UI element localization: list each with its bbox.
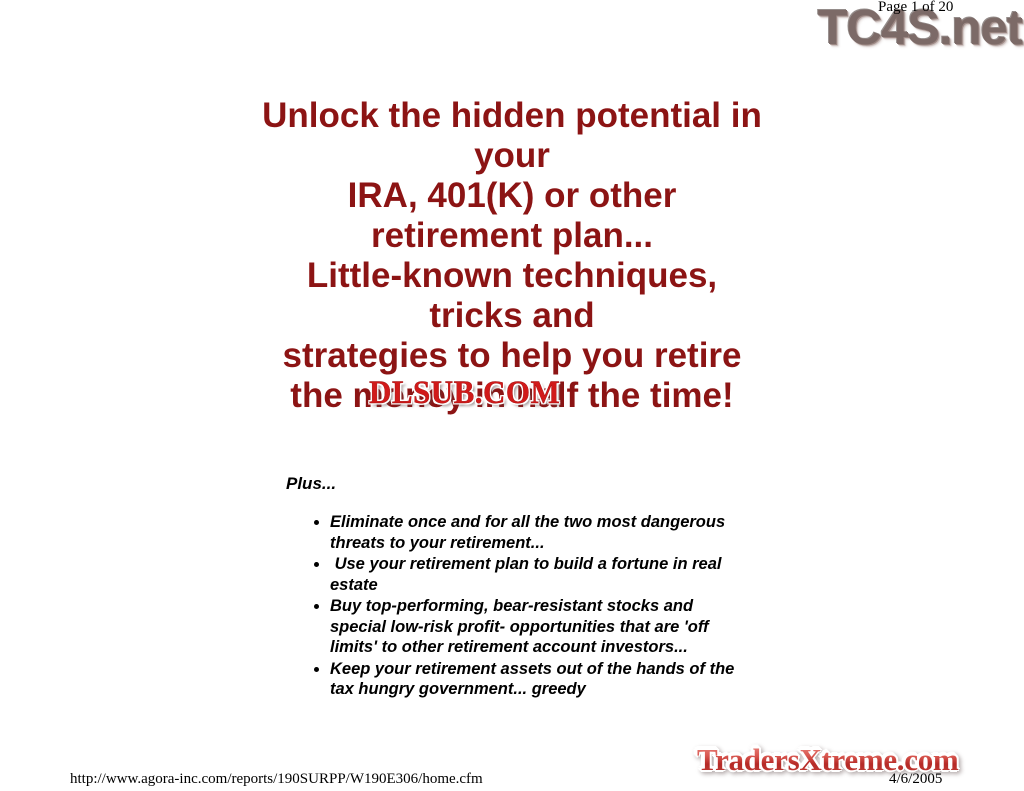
list-item: Eliminate once and for all the two most … (310, 512, 740, 553)
dlsub-watermark: DLSUB.COM (369, 376, 560, 410)
bullet-dot-icon (314, 520, 319, 525)
page-title: Unlock the hidden potential in your IRA,… (0, 96, 1024, 416)
list-item-text: Use your retirement plan to build a fort… (330, 554, 740, 595)
list-item: Keep your retirement assets out of the h… (310, 659, 740, 700)
headline-line-6: tricks and (0, 296, 1024, 336)
bullet-dot-icon (314, 562, 319, 567)
bullet-dot-icon (314, 604, 319, 609)
bullet-dot-icon (314, 667, 319, 672)
headline-line-5: Little-known techniques, (0, 256, 1024, 296)
list-item: Use your retirement plan to build a fort… (310, 554, 740, 595)
benefits-list: Eliminate once and for all the two most … (310, 512, 740, 701)
headline-line-2: your (0, 136, 1024, 176)
list-item-text: Keep your retirement assets out of the h… (330, 659, 740, 700)
page-number-label: Page 1 of 20 (878, 0, 953, 16)
headline-line-3: IRA, 401(K) or other (0, 176, 1024, 216)
source-url-label: http://www.agora-inc.com/reports/190SURP… (70, 771, 483, 788)
date-label: 4/6/2005 (889, 771, 942, 788)
headline-line-4: retirement plan... (0, 216, 1024, 256)
plus-label: Plus... (286, 474, 336, 494)
list-item: Buy top-performing, bear-resistant stock… (310, 596, 740, 658)
headline-line-1: Unlock the hidden potential in (0, 96, 1024, 136)
headline-line-7: strategies to help you retire (0, 336, 1024, 376)
list-item-text: Eliminate once and for all the two most … (330, 512, 740, 553)
list-item-text: Buy top-performing, bear-resistant stock… (330, 596, 740, 658)
slide-page: Page 1 of 20 TC4S.net Unlock the hidden … (0, 0, 1024, 791)
